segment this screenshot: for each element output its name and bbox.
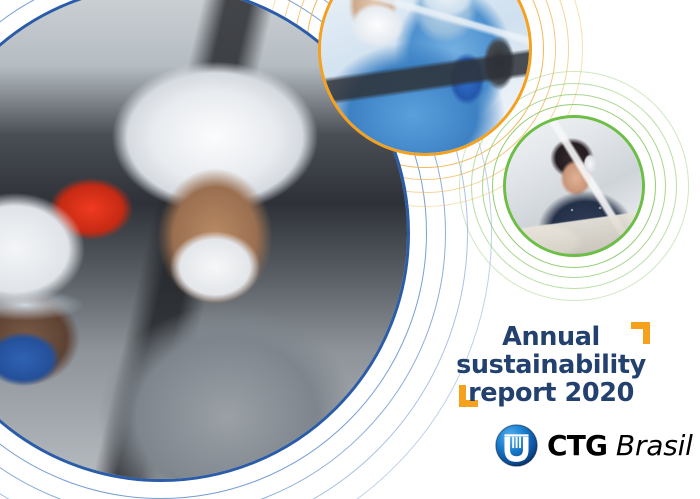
laboratory-technicians-photo-image [321,0,529,153]
ctg-brasil-logo: CTG Brasil [495,424,693,467]
remote-worker-headset-photo [503,115,645,257]
ctg-dam-arch-logo-icon [495,424,538,467]
logo-text-brasil: Brasil [607,429,693,462]
ctg-brasil-wordmark: CTG Brasil [547,432,693,460]
page-title: Annual sustainability report 2020 [444,324,658,407]
logo-text-ctg: CTG [547,429,607,462]
remote-worker-headset-photo-image [506,118,642,254]
laboratory-technicians-photo [318,0,532,156]
report-cover-page: Annual sustainability report 2020 CTG Br… [0,0,700,499]
cover-title-block: Annual sustainability report 2020 [432,318,664,418]
